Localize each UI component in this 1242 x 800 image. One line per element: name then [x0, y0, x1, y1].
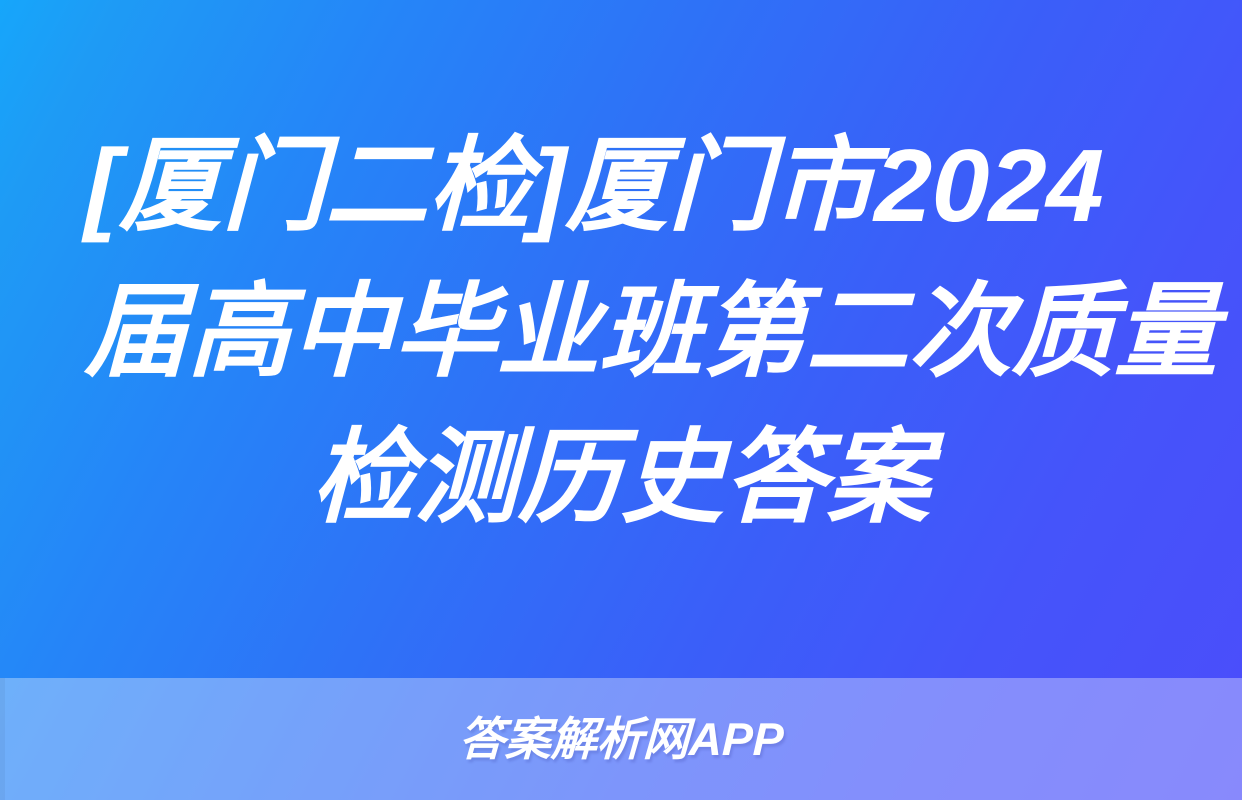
- headline-block: [厦门二检]厦门市2024 届高中毕业班第二次质量 检测历史答案: [0, 0, 1242, 678]
- poster-canvas: [厦门二检]厦门市2024 届高中毕业班第二次质量 检测历史答案 答案解析网AP…: [0, 0, 1242, 800]
- headline-line-1: [厦门二检]厦门市2024: [84, 113, 1161, 259]
- watermark-block: 答案解析网APP: [0, 678, 1242, 800]
- headline-line-3: 检测历史答案: [83, 405, 1160, 551]
- app-name-watermark: 答案解析网APP: [458, 713, 784, 765]
- headline-line-2: 届高中毕业班第二次质量: [84, 259, 1161, 405]
